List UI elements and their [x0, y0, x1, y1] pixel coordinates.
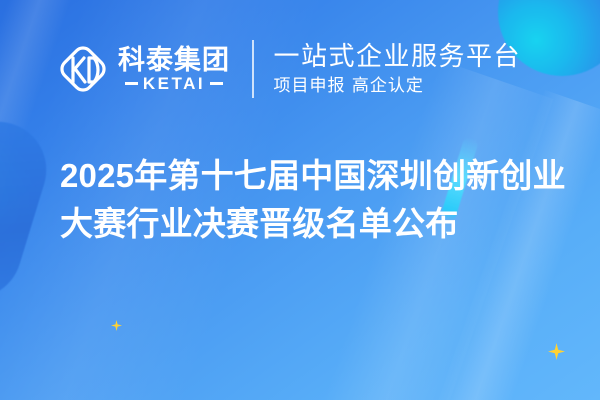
dark-capsule-shape: [0, 110, 58, 310]
banner-header: 科泰集团 KETAI 一站式企业服务平台 项目申报 高企认定: [57, 40, 521, 98]
promo-banner: 科泰集团 KETAI 一站式企业服务平台 项目申报 高企认定 2025年第十七届…: [0, 0, 600, 400]
ketai-diamond-monogram-icon: [57, 41, 109, 97]
slogan-block: 一站式企业服务平台 项目申报 高企认定: [274, 41, 522, 98]
dash-right-icon: [210, 82, 223, 85]
sparkle-icon: [111, 320, 122, 331]
brand-name-en-row: KETAI: [118, 75, 230, 92]
slogan-secondary: 项目申报 高企认定: [274, 75, 522, 97]
vertical-divider: [252, 40, 254, 98]
banner-headline: 2025年第十七届中国深圳创新创业 大赛行业决赛晋级名单公布: [60, 152, 580, 248]
headline-line-2: 大赛行业决赛晋级名单公布: [60, 200, 580, 248]
headline-line-1: 2025年第十七届中国深圳创新创业: [60, 152, 580, 200]
brand-wordmark: 科泰集团 KETAI: [118, 46, 230, 92]
dash-left-icon: [125, 82, 138, 85]
cyan-glow-shape: [0, 140, 40, 250]
brand-name-cn: 科泰集团: [118, 46, 230, 74]
diagonal-light-band: [0, 0, 12, 400]
sparkle-icon: [548, 343, 565, 360]
brand-name-en: KETAI: [143, 75, 205, 92]
slogan-primary: 一站式企业服务平台: [274, 41, 522, 72]
